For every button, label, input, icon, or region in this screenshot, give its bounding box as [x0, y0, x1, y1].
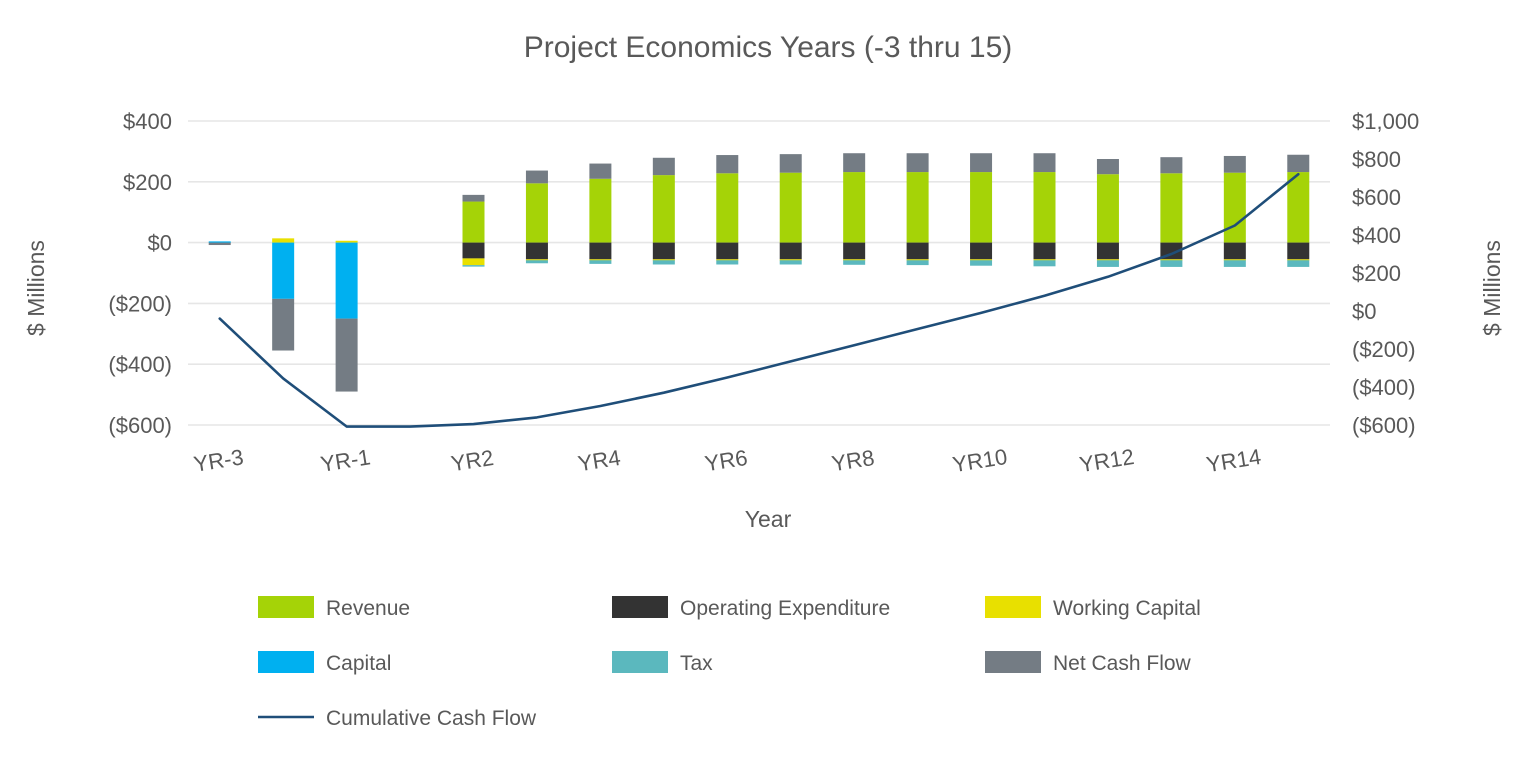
legend-label: Operating Expenditure: [680, 597, 890, 620]
left-axis-tick: ($600): [108, 413, 172, 438]
bar-segment: [780, 154, 802, 173]
bar-segment: [1097, 243, 1119, 260]
bar-segment: [1224, 260, 1246, 267]
bar-segment: [970, 260, 992, 265]
bar-segment: [589, 260, 611, 264]
chart-title: Project Economics Years (-3 thru 15): [524, 31, 1013, 64]
legend-swatch: [258, 651, 314, 673]
bar-segment: [336, 243, 358, 319]
legend-swatch: [612, 596, 668, 618]
legend-item[interactable]: Tax: [612, 651, 713, 675]
right-axis-tick: $0: [1352, 299, 1376, 324]
bar-segment: [843, 243, 865, 260]
bar-group: [526, 171, 548, 264]
bar-segment: [1097, 159, 1119, 174]
legend-item[interactable]: Operating Expenditure: [612, 596, 890, 620]
bar-segment: [1097, 260, 1119, 267]
bar-segment: [1034, 260, 1056, 266]
bar-segment: [272, 238, 294, 242]
left-axis-tick: $0: [148, 231, 172, 256]
bar-segment: [970, 153, 992, 172]
bar-segment: [1287, 260, 1309, 267]
bar-group: [780, 154, 802, 264]
bar-segment: [970, 172, 992, 243]
left-axis-tick: ($400): [108, 352, 172, 377]
bar-segment: [907, 172, 929, 243]
bar-group: [1287, 155, 1309, 267]
bar-segment: [463, 195, 485, 202]
bar-segment: [843, 260, 865, 265]
bar-group: [653, 158, 675, 265]
bar-segment: [1287, 243, 1309, 260]
bar-segment: [1224, 173, 1246, 243]
bar-segment: [1034, 153, 1056, 172]
y-axis-title-left: $ Millions: [23, 240, 49, 336]
legend-swatch: [985, 651, 1041, 673]
bar-segment: [716, 243, 738, 260]
right-axis-tick: $1,000: [1352, 109, 1419, 134]
bar-segment: [1224, 156, 1246, 173]
bar-segment: [336, 241, 358, 243]
bar-segment: [463, 202, 485, 243]
bar-segment: [780, 243, 802, 260]
bar-segment: [589, 179, 611, 243]
bar-group: [463, 195, 485, 267]
left-axis-tick: $400: [123, 109, 172, 134]
legend-label: Tax: [680, 652, 713, 675]
legend-item[interactable]: Net Cash Flow: [985, 651, 1192, 675]
bar-segment: [589, 243, 611, 260]
bar-group: [272, 238, 294, 350]
bar-segment: [907, 153, 929, 172]
right-axis-tick: ($400): [1352, 375, 1416, 400]
bar-segment: [653, 260, 675, 264]
x-axis-title: Year: [745, 506, 792, 532]
legend-label: Net Cash Flow: [1053, 652, 1192, 675]
legend-item[interactable]: Revenue: [258, 596, 410, 620]
bar-segment: [970, 243, 992, 260]
bar-segment: [780, 173, 802, 243]
bar-group: [1224, 156, 1246, 267]
bar-segment: [907, 260, 929, 265]
bar-segment: [653, 175, 675, 242]
bar-group: [1097, 159, 1119, 267]
bar-segment: [716, 155, 738, 173]
bar-group: [907, 153, 929, 265]
left-axis-tick: ($200): [108, 291, 172, 316]
legend-label: Cumulative Cash Flow: [326, 707, 537, 730]
chart-container: Project Economics Years (-3 thru 15) $40…: [0, 0, 1536, 760]
bar-segment: [780, 260, 802, 264]
bar-segment: [1160, 173, 1182, 242]
bar-segment: [1097, 174, 1119, 242]
bar-segment: [526, 260, 548, 263]
bar-segment: [1160, 157, 1182, 173]
bar-segment: [716, 260, 738, 264]
project-economics-chart: Project Economics Years (-3 thru 15) $40…: [0, 0, 1536, 760]
legend-swatch: [258, 596, 314, 618]
bar-segment: [1287, 172, 1309, 243]
legend-label: Working Capital: [1053, 597, 1201, 620]
bar-segment: [463, 265, 485, 267]
y-axis-title-right: $ Millions: [1479, 240, 1505, 336]
right-axis-tick: ($200): [1352, 337, 1416, 362]
legend-label: Revenue: [326, 597, 410, 620]
legend-label: Capital: [326, 652, 391, 675]
bar-segment: [653, 158, 675, 175]
bar-segment: [526, 183, 548, 242]
bar-segment: [1160, 260, 1182, 267]
bar-group: [589, 164, 611, 264]
right-axis-tick: $600: [1352, 185, 1401, 210]
bar-segment: [1224, 243, 1246, 260]
left-axis-tick: $200: [123, 170, 172, 195]
bar-segment: [907, 243, 929, 260]
bar-segment: [1287, 155, 1309, 172]
bar-segment: [653, 243, 675, 260]
legend-swatch: [985, 596, 1041, 618]
bar-segment: [1034, 172, 1056, 243]
bar-segment: [272, 299, 294, 351]
bar-segment: [463, 243, 485, 259]
right-axis-tick: $200: [1352, 261, 1401, 286]
bar-group: [209, 241, 231, 245]
bar-segment: [1034, 243, 1056, 260]
chart-background: [0, 0, 1536, 760]
right-axis-tick: $400: [1352, 223, 1401, 248]
bar-segment: [336, 319, 358, 392]
bar-group: [716, 155, 738, 264]
bar-segment: [843, 153, 865, 172]
bar-segment: [526, 243, 548, 260]
bar-group: [336, 241, 358, 392]
bar-segment: [209, 243, 231, 245]
bar-segment: [716, 173, 738, 242]
bar-segment: [526, 171, 548, 184]
legend-swatch: [612, 651, 668, 673]
bar-segment: [843, 172, 865, 243]
bar-segment: [589, 164, 611, 179]
bar-group: [1034, 153, 1056, 266]
bar-segment: [272, 243, 294, 299]
bar-group: [970, 153, 992, 265]
legend-item[interactable]: Working Capital: [985, 596, 1201, 620]
right-axis-tick: ($600): [1352, 413, 1416, 438]
bar-segment: [463, 258, 485, 265]
bar-group: [843, 153, 865, 265]
right-axis-tick: $800: [1352, 147, 1401, 172]
